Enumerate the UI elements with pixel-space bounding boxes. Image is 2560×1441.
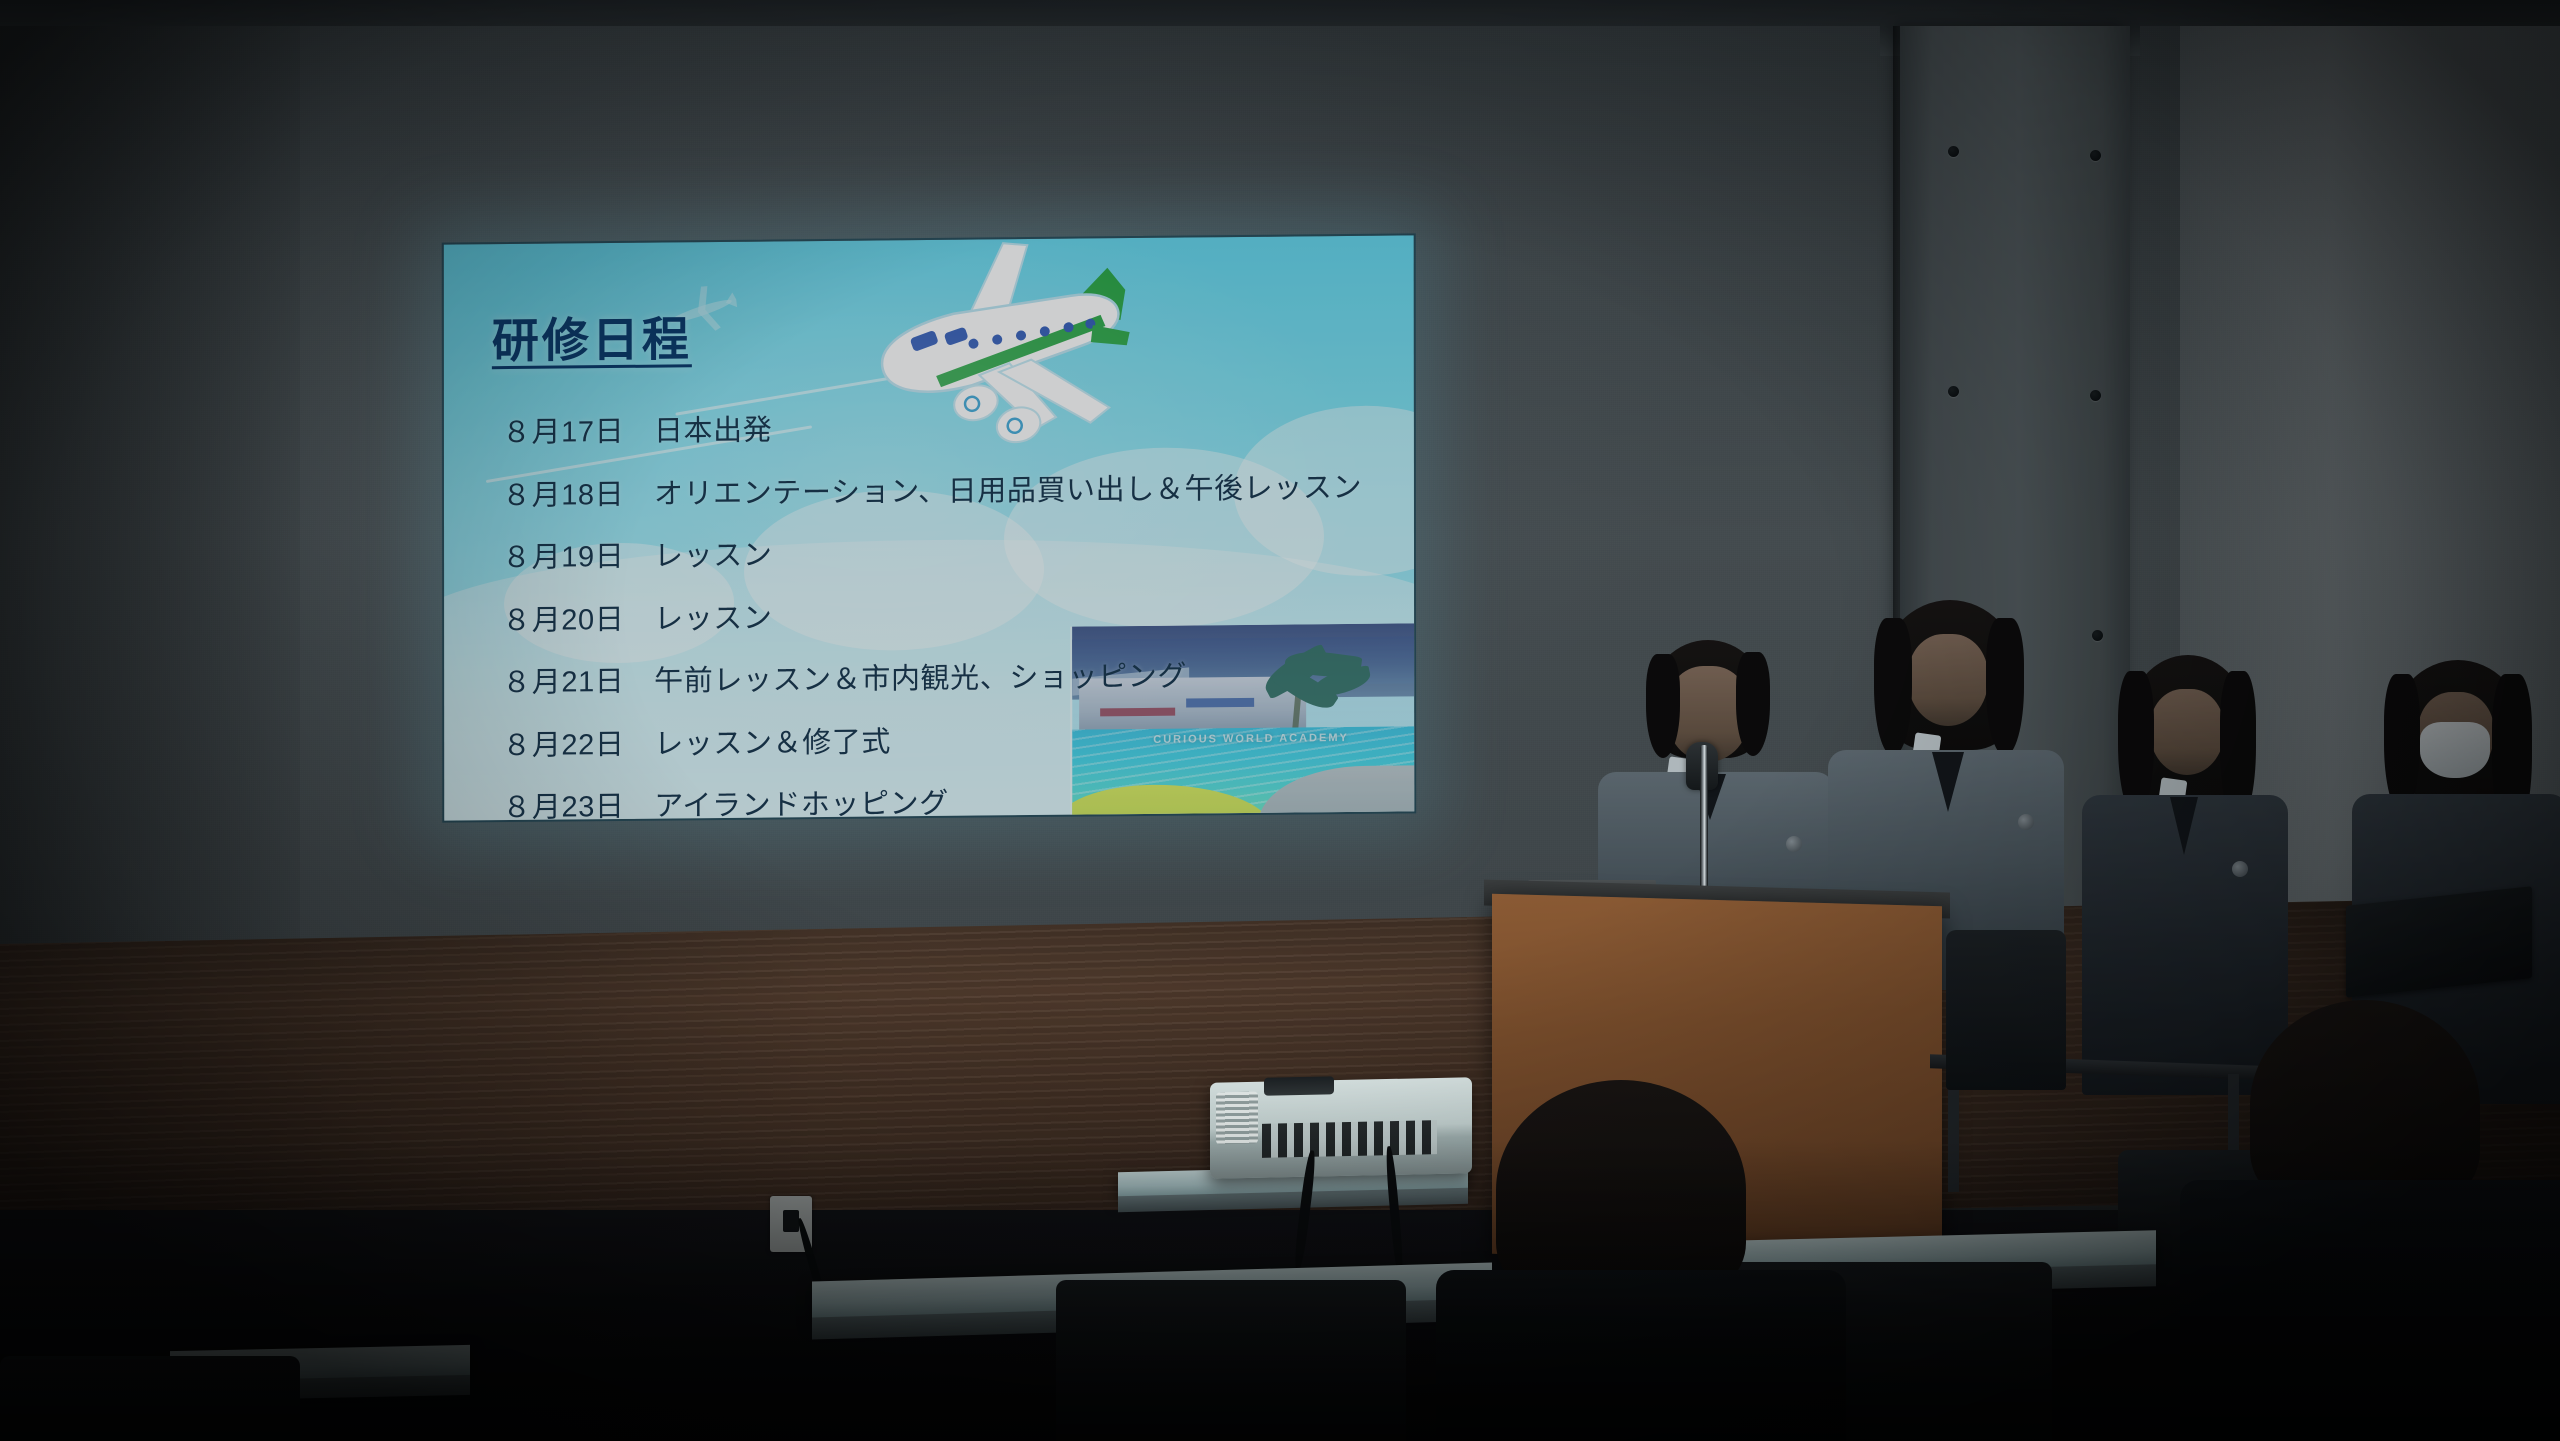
hair-side — [2384, 674, 2420, 814]
wall-shadow-left — [0, 26, 300, 956]
column-bolt-icon — [2090, 390, 2101, 401]
schedule-row: ８月21日 午前レッスン＆市内観光、ショッピング — [502, 650, 1402, 701]
classroom-chair[interactable] — [1056, 1280, 1406, 1441]
audience-torso — [1436, 1270, 1846, 1441]
schedule-date: ８月18日 — [502, 470, 654, 513]
blazer-button — [1786, 836, 1802, 852]
column-bolt-icon — [2092, 630, 2103, 641]
schedule-event: 日本出発 — [654, 406, 772, 449]
schedule-row: ８月19日 レッスン — [502, 525, 1402, 576]
hair — [1496, 1080, 1746, 1300]
audience-member-right — [2180, 1000, 2560, 1441]
projector-ports — [1262, 1120, 1437, 1158]
classroom-chair[interactable] — [1946, 930, 2066, 1090]
schedule-date: ８月19日 — [502, 533, 654, 576]
schedule-date: ８月17日 — [502, 408, 654, 451]
column-bolt-icon — [2090, 150, 2101, 161]
projected-slide: 研修日程 ８月17日 日本出発 ８月18日 オリエンテーション、日用品買い出し＆… — [444, 235, 1414, 820]
face-mask — [2420, 722, 2490, 778]
schedule-row: ８月22日 レッスン＆修了式 — [502, 713, 1402, 764]
schedule-date: ８月20日 — [502, 595, 654, 638]
schedule-date: ８月22日 — [502, 720, 654, 763]
column-bolt-icon — [1948, 146, 1959, 157]
schedule-row: ８月18日 オリエンテーション、日用品買い出し＆午後レッスン — [502, 463, 1402, 514]
schedule-list: ８月17日 日本出発 ８月18日 オリエンテーション、日用品買い出し＆午後レッス… — [502, 400, 1402, 820]
hair-side — [1986, 618, 2024, 756]
blazer-lapel — [1932, 752, 1964, 812]
blazer-button — [2018, 814, 2034, 830]
schedule-event: レッスン — [654, 532, 772, 575]
hair-side — [1736, 652, 1770, 756]
audience-member-center — [1436, 1080, 1856, 1441]
schedule-row: ８月20日 レッスン — [502, 588, 1402, 639]
hair-side — [1874, 618, 1912, 756]
classroom-chair[interactable] — [0, 1356, 300, 1441]
schedule-date: ８月23日 — [502, 783, 654, 821]
blazer-button — [2232, 861, 2248, 877]
schedule-row: ８月17日 日本出発 — [502, 400, 1402, 451]
presentation-room-scene: 研修日程 ８月17日 日本出発 ８月18日 オリエンテーション、日用品買い出し＆… — [0, 0, 2560, 1441]
laptop[interactable] — [2346, 886, 2532, 998]
microphone-stem — [1700, 745, 1708, 905]
projector-vent — [1216, 1092, 1258, 1145]
side-table-leg — [1948, 1072, 1959, 1192]
hair — [2250, 1000, 2480, 1210]
schedule-event: レッスン＆修了式 — [654, 718, 891, 762]
schedule-date: ８月21日 — [502, 658, 654, 701]
audience-torso — [2180, 1180, 2560, 1441]
schedule-event: レッスン — [654, 594, 772, 637]
face — [2150, 689, 2224, 775]
column-bolt-icon — [1948, 386, 1959, 397]
schedule-event: オリエンテーション、日用品買い出し＆午後レッスン — [654, 463, 1362, 512]
blazer-lapel — [2170, 797, 2198, 855]
face — [1908, 634, 1988, 726]
hair-side — [1646, 654, 1680, 758]
projector-lens — [1264, 1076, 1334, 1095]
schedule-event: 午前レッスン＆市内観光、ショッピング — [654, 653, 1187, 700]
slide-title: 研修日程 — [492, 300, 692, 371]
schedule-event: アイランドホッピング — [654, 780, 949, 821]
